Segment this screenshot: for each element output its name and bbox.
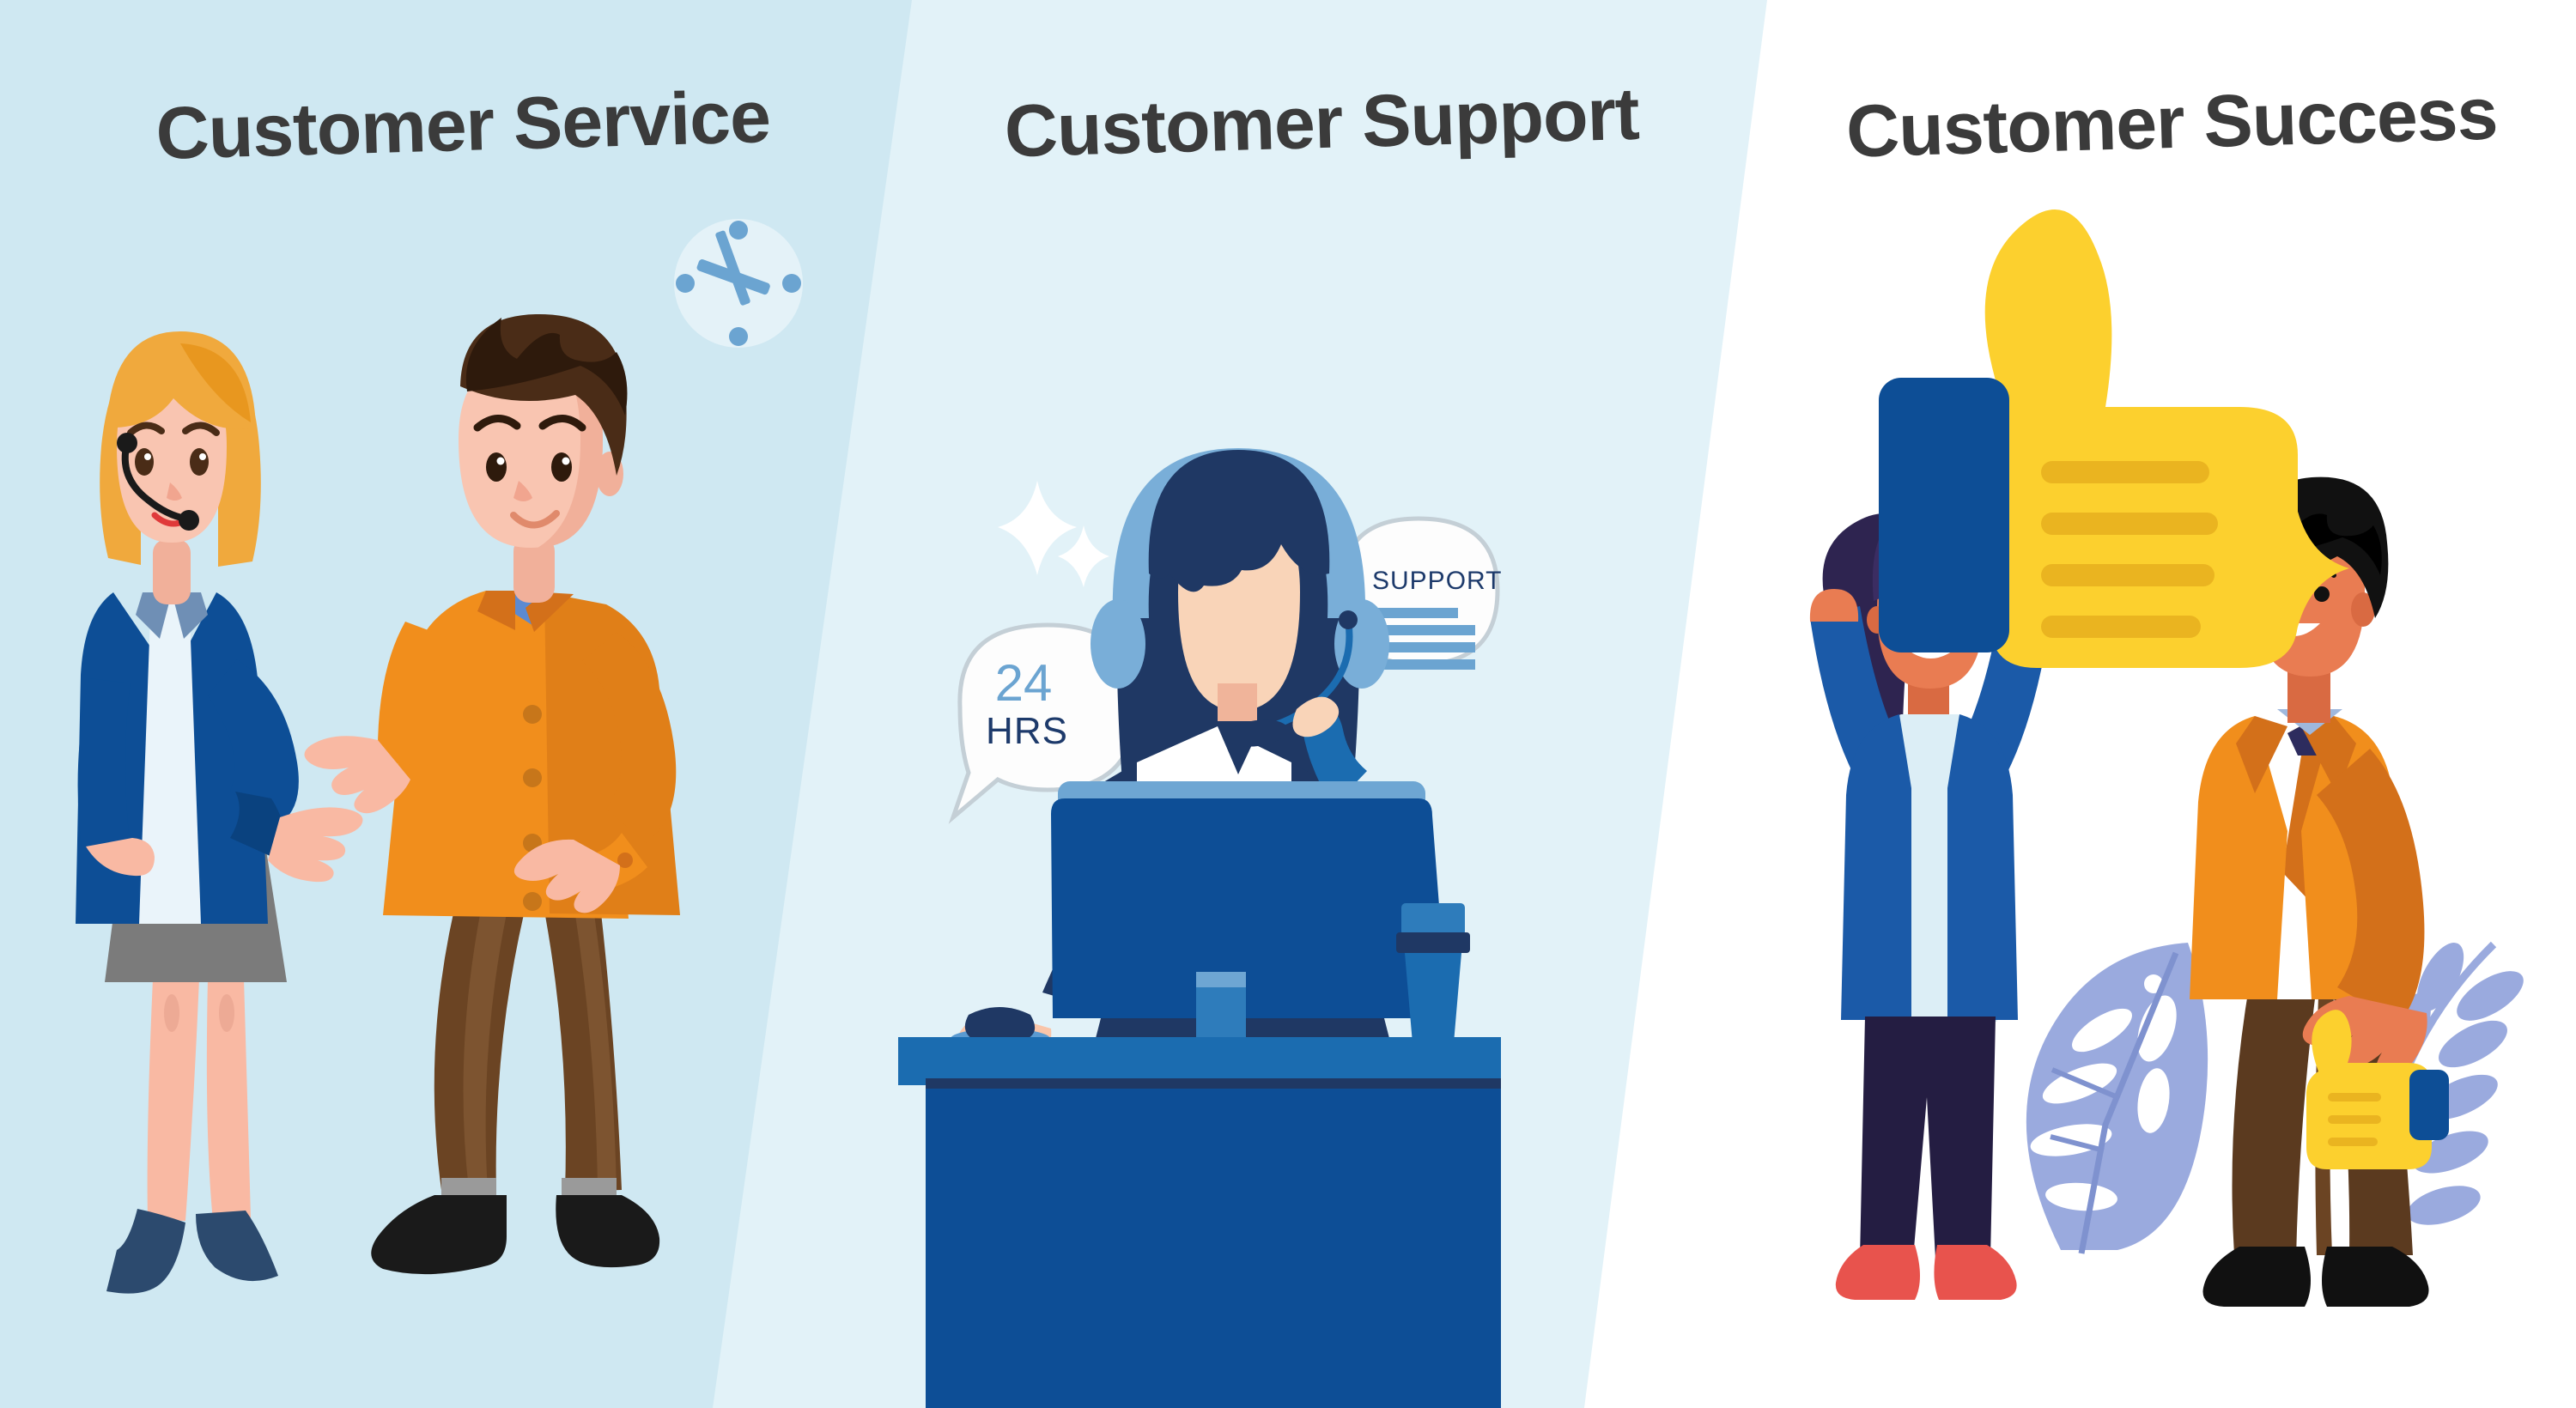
bubble-hours-label: HRS xyxy=(986,710,1068,752)
illustration-canvas: Customer Service Customer Support Custom… xyxy=(0,0,2576,1408)
thumbs-up-cuff xyxy=(1879,378,2009,652)
bubble-support-label: SUPPORT xyxy=(1372,567,1502,595)
desk xyxy=(898,1037,1501,1408)
thumbs-up-small-cuff xyxy=(2409,1070,2449,1140)
desk-body xyxy=(926,1089,1501,1408)
bubble-hours-number: 24 xyxy=(995,654,1053,712)
clock-icon xyxy=(674,219,803,348)
monitor-screen-back xyxy=(1051,798,1448,1018)
desk-top xyxy=(898,1037,1501,1085)
panel-titles: Customer Service Customer Support Custom… xyxy=(155,72,2498,175)
panel-title-service: Customer Service xyxy=(155,76,771,175)
